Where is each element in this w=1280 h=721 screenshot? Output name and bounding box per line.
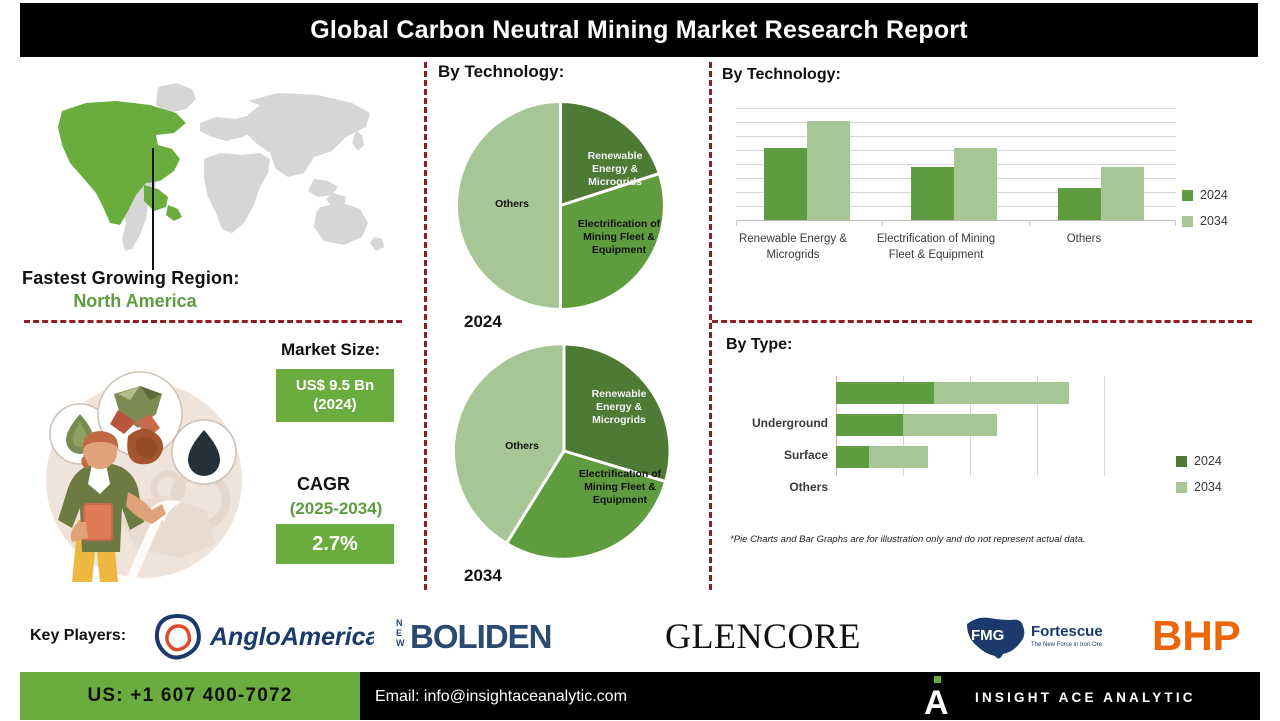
svg-text:A: A bbox=[924, 684, 949, 716]
svg-text:E: E bbox=[396, 628, 402, 638]
pie-year-2024: 2024 bbox=[464, 312, 502, 332]
logo-bhp: BHP bbox=[1152, 612, 1268, 660]
legend-label-2034: 2034 bbox=[1194, 480, 1222, 494]
mining-illustration bbox=[20, 352, 268, 588]
page-title-bar: Global Carbon Neutral Mining Market Rese… bbox=[20, 3, 1258, 57]
svg-text:W: W bbox=[396, 638, 405, 648]
svg-text:BHP: BHP bbox=[1152, 612, 1241, 659]
axis-tick bbox=[1175, 220, 1176, 226]
legend-item-2024: 2024 bbox=[1176, 454, 1222, 468]
legend-swatch-2034 bbox=[1182, 216, 1193, 227]
cagr-value-box: 2.7% bbox=[276, 524, 394, 564]
fastest-growing-region: Fastest Growing Region: North America bbox=[22, 268, 402, 312]
svg-text:GLENCORE: GLENCORE bbox=[665, 616, 861, 656]
hbar-chart-section: By Type: Underground Surface Others bbox=[716, 336, 1261, 586]
legend-swatch-2024 bbox=[1176, 456, 1187, 467]
svg-text:BOLIDEN: BOLIDEN bbox=[410, 618, 552, 655]
bar-2034-electrification bbox=[954, 148, 997, 220]
legend-label-2034: 2034 bbox=[1200, 214, 1228, 228]
pie-slice-label-electrification: Electrification of Mining Fleet & Equipm… bbox=[571, 468, 669, 507]
axis-tick bbox=[736, 220, 737, 226]
fastest-growing-region-label: Fastest Growing Region: bbox=[22, 268, 402, 289]
hbar-label-others: Others bbox=[716, 480, 828, 494]
market-size-value-line1: US$ 9.5 Bn bbox=[296, 377, 374, 396]
category-label-electrification: Electrification of Mining Fleet & Equipm… bbox=[876, 232, 996, 263]
axis-tick bbox=[1029, 220, 1030, 226]
legend-swatch-2034 bbox=[1176, 482, 1187, 493]
pie-slice-label-others: Others bbox=[481, 198, 543, 211]
bar-2034-others bbox=[1101, 167, 1144, 220]
logo-glencore: GLENCORE bbox=[665, 616, 895, 658]
legend-item-2034: 2034 bbox=[1176, 480, 1222, 494]
hbar-row-surface bbox=[836, 414, 1106, 436]
hbar-2034-others bbox=[869, 446, 928, 468]
chart-disclaimer-note: *Pie Charts and Bar Graphs are for illus… bbox=[730, 534, 1250, 545]
pie-section-2034: Renewable Energy & Microgrids Electrific… bbox=[438, 330, 703, 588]
pie-section-title: By Technology: bbox=[438, 62, 564, 82]
footer-brand: INSIGHT ACE ANALYTIC bbox=[975, 690, 1196, 705]
hbar-row-underground bbox=[836, 382, 1106, 404]
column-chart-title: By Technology: bbox=[722, 66, 841, 84]
pie-section-2024: By Technology: Renewable Energy & Microg… bbox=[438, 62, 703, 317]
legend-label-2024: 2024 bbox=[1200, 188, 1228, 202]
divider-horizontal-left bbox=[24, 320, 402, 323]
bar-2034-renewable bbox=[807, 121, 850, 220]
hbar-2034-underground bbox=[934, 382, 1069, 404]
hbar-label-surface: Surface bbox=[716, 448, 828, 462]
gridline bbox=[736, 108, 1176, 109]
divider-vertical-right bbox=[709, 62, 712, 590]
fastest-growing-region-value: North America bbox=[22, 291, 248, 312]
svg-text:N: N bbox=[396, 618, 403, 628]
market-size-value-box: US$ 9.5 Bn (2024) bbox=[276, 369, 394, 422]
market-size-value-line2: (2024) bbox=[296, 396, 374, 415]
svg-text:Fortescue: Fortescue bbox=[1031, 623, 1103, 640]
footer-phone: US: +1 607 400-7072 bbox=[87, 685, 292, 707]
legend-label-2024: 2024 bbox=[1194, 454, 1222, 468]
bar-2024-electrification bbox=[911, 167, 954, 220]
market-size-title: Market Size: bbox=[281, 340, 380, 360]
column-chart-legend: 2024 2034 bbox=[1182, 188, 1228, 240]
svg-text:FMG: FMG bbox=[971, 627, 1004, 644]
footer-phone-box: US: +1 607 400-7072 bbox=[20, 672, 360, 720]
legend-item-2024: 2024 bbox=[1182, 188, 1228, 202]
page-title: Global Carbon Neutral Mining Market Rese… bbox=[310, 16, 968, 45]
legend-swatch-2024 bbox=[1182, 190, 1193, 201]
svg-text:The New Force in Iron Ore: The New Force in Iron Ore bbox=[1031, 642, 1103, 648]
hbar-2034-surface bbox=[903, 414, 997, 436]
key-players-label: Key Players: bbox=[30, 627, 126, 645]
column-chart-plot bbox=[736, 108, 1176, 220]
cagr-years: (2025-2034) bbox=[276, 499, 396, 519]
logo-fortescue: FMG Fortescue The New Force in Iron Ore bbox=[955, 610, 1115, 660]
gridline bbox=[736, 136, 1176, 137]
category-label-others: Others bbox=[1024, 232, 1144, 248]
infographic-root: Global Carbon Neutral Mining Market Rese… bbox=[0, 0, 1280, 720]
divider-horizontal-right bbox=[712, 320, 1252, 323]
fortescue-australia-icon: FMG bbox=[967, 618, 1024, 659]
logo-angloamerican: AngloAmerican bbox=[152, 612, 374, 660]
bar-2024-others bbox=[1058, 188, 1101, 220]
hbar-2024-surface bbox=[836, 414, 903, 436]
cagr-title: CAGR bbox=[297, 474, 350, 495]
pie-slice-label-electrification: Electrification of Mining Fleet & Equipm… bbox=[571, 218, 667, 257]
pie-slice-label-others: Others bbox=[491, 440, 553, 453]
hbar-chart-legend: 2024 2034 bbox=[1176, 454, 1222, 506]
insightace-logo-icon: A bbox=[920, 676, 958, 716]
divider-vertical-left bbox=[424, 62, 427, 590]
hbar-chart-plot bbox=[836, 376, 1106, 476]
legend-item-2034: 2034 bbox=[1182, 214, 1228, 228]
column-chart-section: By Technology: Renewable Energy & Microg… bbox=[716, 66, 1261, 316]
pie-year-2034: 2034 bbox=[464, 566, 502, 586]
gridline bbox=[736, 122, 1176, 123]
hbar-2024-others bbox=[836, 446, 869, 468]
hbar-row-others bbox=[836, 446, 1106, 468]
pie-chart-2024: Renewable Energy & Microgrids Electrific… bbox=[453, 98, 668, 313]
x-axis bbox=[736, 220, 1176, 221]
logo-newboliden: N E W BOLIDEN bbox=[396, 612, 596, 658]
pie-slice-label-renewable: Renewable Energy & Microgrids bbox=[581, 388, 657, 427]
bar-2024-renewable bbox=[764, 148, 807, 220]
hbar-chart-title: By Type: bbox=[726, 336, 792, 354]
angloamerican-mark-icon bbox=[157, 616, 199, 658]
world-map bbox=[18, 75, 408, 260]
pie-slice-label-renewable: Renewable Energy & Microgrids bbox=[577, 150, 653, 189]
map-pointer-line bbox=[152, 148, 154, 270]
footer-email: Email: info@insightaceanalytic.com bbox=[375, 688, 627, 706]
svg-text:AngloAmerican: AngloAmerican bbox=[209, 623, 374, 651]
pie-chart-2034: Renewable Energy & Microgrids Electrific… bbox=[453, 340, 675, 562]
category-label-renewable: Renewable Energy & Microgrids bbox=[728, 232, 858, 263]
hbar-2024-underground bbox=[836, 382, 934, 404]
axis-tick bbox=[882, 220, 883, 226]
hbar-label-underground: Underground bbox=[716, 416, 828, 430]
